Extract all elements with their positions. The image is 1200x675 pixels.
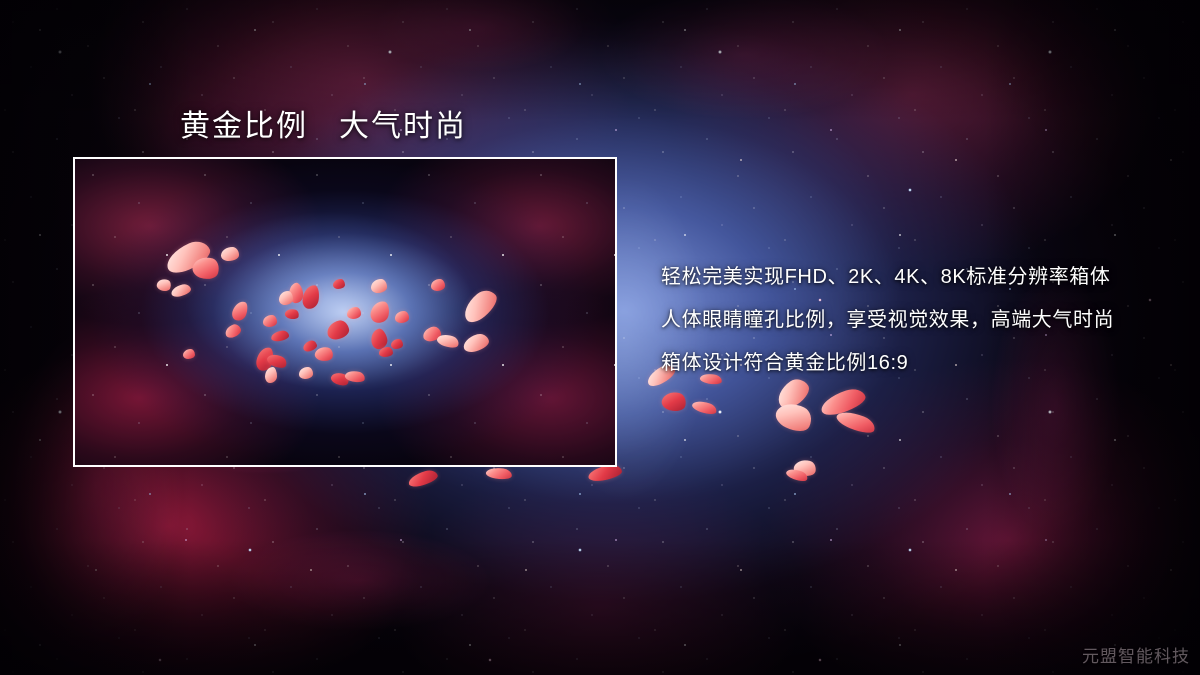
petal [691,398,718,416]
petal [485,466,512,481]
petal [818,385,868,418]
petal [458,285,501,326]
copy-line-3: 箱体设计符合黄金比例16:9 [661,342,1161,385]
body-copy: 轻松完美实现FHD、2K、4K、8K标准分辨率箱体 人体眼睛瞳孔比例，享受视觉效… [661,256,1161,385]
petal [431,279,445,291]
petal [223,323,242,340]
petal [301,284,320,310]
petal [299,367,313,379]
petal [785,467,809,484]
petal [155,277,172,293]
petal [772,397,816,436]
petal [183,349,195,359]
petal [369,300,391,325]
slide-canvas: 黄金比例 大气时尚 轻松完美实现FHD、2K、4K、8K标准分辨率箱体 人体眼睛… [0,0,1200,675]
petal [284,307,300,320]
petal [834,407,877,437]
petal [347,307,361,319]
petal [263,315,277,327]
petal [391,339,403,349]
petal [379,347,393,357]
media-frame [73,157,617,467]
watermark: 元盟智能科技 [1082,642,1190,667]
petal [230,299,249,322]
petal [371,279,387,293]
petal [793,458,818,478]
petal [395,311,409,323]
petal [314,346,334,363]
petal [170,283,192,299]
petal [461,332,490,355]
copy-line-1: 轻松完美实现FHD、2K、4K、8K标准分辨率箱体 [661,256,1161,299]
petal [333,279,345,289]
petal [279,291,293,305]
petal-layer-frame [75,159,615,465]
petal [436,332,461,350]
petal [270,330,289,342]
page-title: 黄金比例 大气时尚 [180,101,467,145]
copy-line-2: 人体眼睛瞳孔比例，享受视觉效果，高端大气时尚 [661,299,1161,342]
petal [265,367,277,383]
petal [407,468,439,489]
petal [325,319,350,341]
petal [221,247,239,261]
petal [660,389,688,413]
